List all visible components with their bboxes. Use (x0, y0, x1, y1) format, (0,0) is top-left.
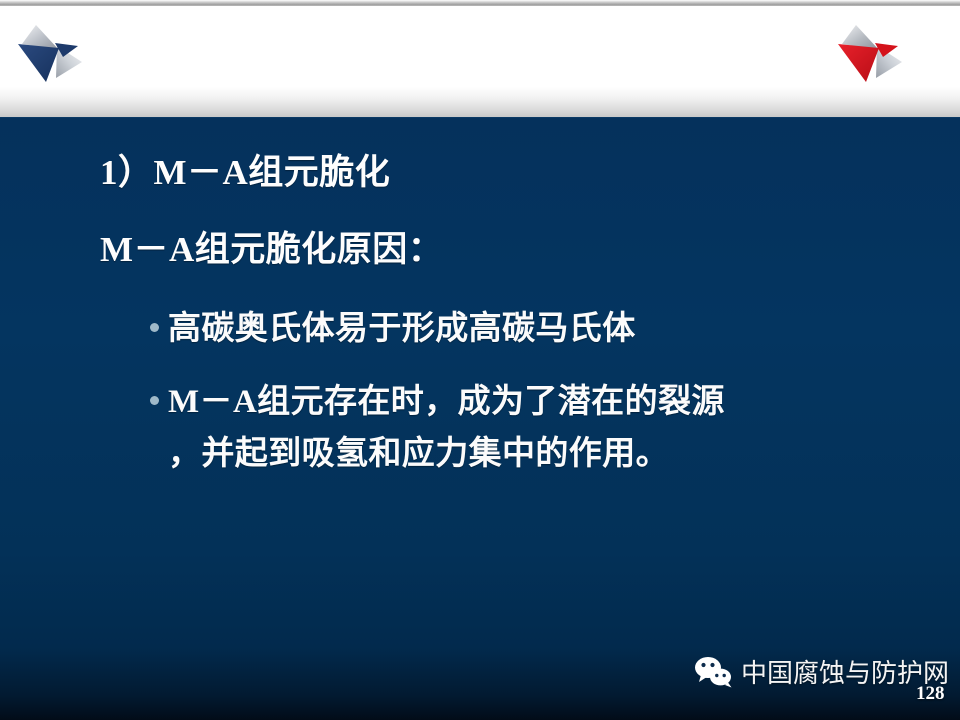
presentation-slide: 1）M－A组元脆化 M－A组元脆化原因： 高碳奥氏体易于形成高碳马氏体 M－A组… (0, 0, 960, 720)
bullet-dot-icon (150, 396, 159, 405)
red-arrow-logo (832, 22, 910, 86)
page-number: 128 (916, 683, 945, 705)
list-item: M－A组元存在时，成为了潜在的裂源，并起到吸氢和应力集中的作用。 (150, 376, 940, 480)
slide-heading-2: M－A组元脆化原因： (100, 230, 443, 270)
list-item-text: M－A组元存在时，成为了潜在的裂源，并起到吸氢和应力集中的作用。 (168, 376, 940, 480)
wechat-icon (694, 655, 734, 689)
list-item-text: 高碳奥氏体易于形成高碳马氏体 (168, 303, 940, 355)
wechat-watermark: 中国腐蚀与防护网 (694, 653, 949, 690)
list-item-text-line-1: M－A组元存在时，成为了潜在的裂源 (168, 384, 725, 420)
slide-body: 1）M－A组元脆化 M－A组元脆化原因： 高碳奥氏体易于形成高碳马氏体 M－A组… (0, 118, 960, 720)
blue-arrow-logo (12, 22, 90, 86)
slide-header (0, 6, 960, 118)
slide-heading-1: 1）M－A组元脆化 (100, 153, 390, 193)
bullet-dot-icon (150, 323, 159, 332)
list-item: 高碳奥氏体易于形成高碳马氏体 (150, 303, 940, 355)
list-item-text-line-2: ，并起到吸氢和应力集中的作用。 (168, 428, 940, 480)
